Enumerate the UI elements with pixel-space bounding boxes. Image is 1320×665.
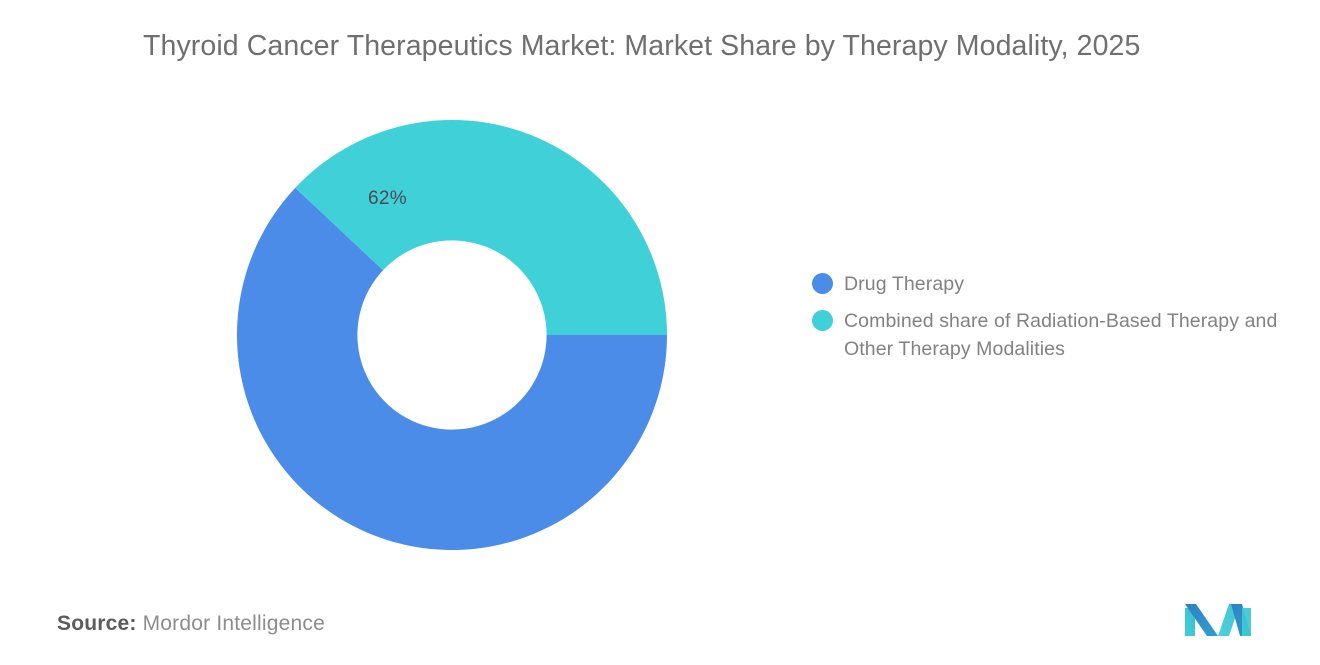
donut-chart [237,120,667,550]
legend-swatch-icon [812,273,833,294]
legend-swatch-icon [812,310,833,331]
source-attribution: Source:Mordor Intelligence [57,612,325,636]
legend-item-combined-other[interactable]: Combined share of Radiation-Based Therap… [812,307,1302,363]
donut-data-label-primary: 62% [368,188,407,210]
donut-chart-svg [237,120,667,550]
page-title: Thyroid Cancer Therapeutics Market: Mark… [143,30,1263,63]
legend-item-label: Combined share of Radiation-Based Therap… [844,307,1294,363]
source-value: Mordor Intelligence [143,612,325,635]
chart-legend: Drug Therapy Combined share of Radiation… [812,270,1302,372]
legend-item-label: Drug Therapy [844,270,964,298]
source-label: Source: [57,612,137,635]
mordor-intelligence-logo-icon [1185,598,1251,636]
legend-item-drug-therapy[interactable]: Drug Therapy [812,270,1302,298]
